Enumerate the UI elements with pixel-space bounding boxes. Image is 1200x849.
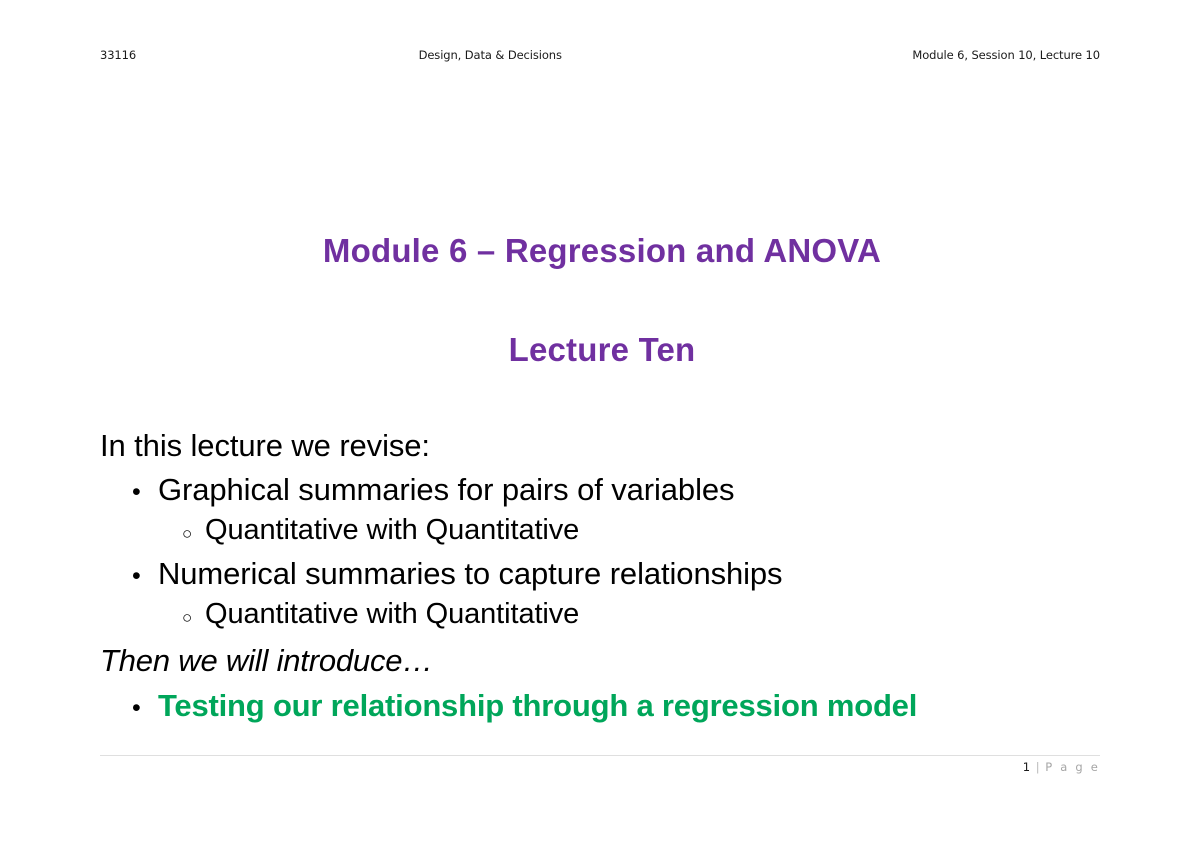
bullet-dot-icon: • <box>132 696 158 721</box>
header-module-info: Module 6, Session 10, Lecture 10 <box>912 48 1100 62</box>
list-item-label: Testing our relationship through a regre… <box>158 690 1104 721</box>
list-item: • Graphical summaries for pairs of varia… <box>100 474 1104 505</box>
footer-page-number: 1 <box>1023 760 1030 774</box>
list-item-label: Quantitative with Quantitative <box>205 600 1104 629</box>
list-item-highlight: • Testing our relationship through a reg… <box>100 690 1104 721</box>
footer-page-label: P a g e <box>1045 760 1100 774</box>
intro-text: In this lecture we revise: <box>100 430 1104 461</box>
revision-bullet-list: • Graphical summaries for pairs of varia… <box>100 474 1104 629</box>
header-course-title: Design, Data & Decisions <box>136 48 912 62</box>
bullet-circle-icon: ○ <box>182 609 205 626</box>
list-item-label: Graphical summaries for pairs of variabl… <box>158 474 1104 505</box>
page-subtitle: Lecture Ten <box>100 331 1104 370</box>
list-item: ○ Quantitative with Quantitative <box>100 516 1104 545</box>
document-header: 33116 Design, Data & Decisions Module 6,… <box>100 48 1100 70</box>
transition-text: Then we will introduce… <box>100 645 1104 676</box>
list-item: ○ Quantitative with Quantitative <box>100 600 1104 629</box>
list-item-label: Numerical summaries to capture relations… <box>158 558 1104 589</box>
header-course-code: 33116 <box>100 48 136 62</box>
document-footer: 1 | P a g e <box>100 760 1100 774</box>
list-item: • Numerical summaries to capture relatio… <box>100 558 1104 589</box>
document-body: Module 6 – Regression and ANOVA Lecture … <box>100 232 1104 721</box>
list-item-label: Quantitative with Quantitative <box>205 516 1104 545</box>
footer-divider <box>100 755 1100 756</box>
bullet-dot-icon: • <box>132 564 158 589</box>
highlight-bullet-list: • Testing our relationship through a reg… <box>100 690 1104 721</box>
bullet-circle-icon: ○ <box>182 525 205 542</box>
footer-separator: | <box>1034 760 1042 774</box>
page-title: Module 6 – Regression and ANOVA <box>100 232 1104 271</box>
bullet-dot-icon: • <box>132 480 158 505</box>
document-page: 33116 Design, Data & Decisions Module 6,… <box>0 0 1200 849</box>
